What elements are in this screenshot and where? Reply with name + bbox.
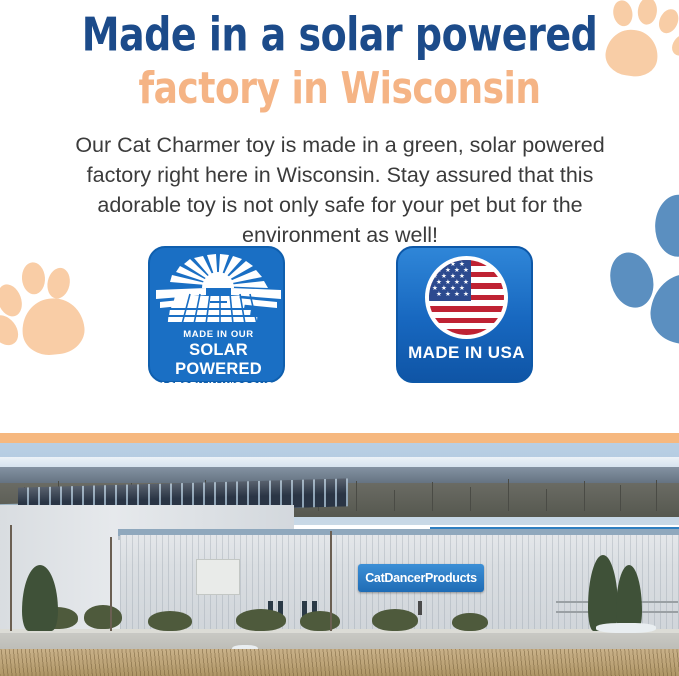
bare-tree [330, 531, 332, 631]
page-root: Made in a solar powered factory in Wisco… [0, 0, 679, 676]
decorative-orange-band [0, 405, 679, 443]
sun-over-solar-panels-icon [150, 252, 287, 330]
solar-badge-line-2: SOLAR POWERED [150, 341, 287, 379]
flag-canton: ★★ ★★ ★★ ★★ ★★ ★★ ★★ ★★ ★★ ★★ ★★ ★★ [429, 260, 471, 301]
solar-badge-line-3: FACTORY IN WISCONSIN [150, 379, 287, 393]
shrub [300, 611, 340, 631]
body-paragraph: Our Cat Charmer toy is made in a green, … [45, 130, 635, 250]
sign-post [418, 601, 422, 615]
bare-tree [10, 525, 12, 631]
company-sign-text: CatDancerProducts [365, 571, 477, 585]
building-panel-light [196, 559, 240, 595]
solar-badge-line-1: MADE IN OUR [150, 328, 287, 341]
snow-patch [596, 623, 656, 633]
made-in-usa-badge: ★★ ★★ ★★ ★★ ★★ ★★ ★★ ★★ ★★ ★★ ★★ ★★ [396, 246, 533, 383]
made-in-usa-label: MADE IN USA [398, 343, 535, 363]
shrub [372, 609, 418, 631]
solar-powered-factory-badge: MADE IN OUR SOLAR POWERED FACTORY IN WIS… [148, 246, 285, 383]
factory-photo: CatDancerProducts [0, 405, 679, 676]
shrub [236, 609, 286, 631]
heading-line-1: Made in a solar powered [0, 8, 679, 62]
shrub [452, 613, 488, 631]
shrub [84, 605, 122, 629]
badge-row: MADE IN OUR SOLAR POWERED FACTORY IN WIS… [0, 246, 679, 396]
shrub [148, 611, 192, 631]
heading-block: Made in a solar powered factory in Wisco… [0, 0, 679, 106]
us-flag-circle-icon: ★★ ★★ ★★ ★★ ★★ ★★ ★★ ★★ ★★ ★★ ★★ ★★ [425, 256, 508, 339]
bare-tree [110, 537, 112, 631]
solar-badge-text: MADE IN OUR SOLAR POWERED FACTORY IN WIS… [150, 328, 287, 393]
heading-line-2: factory in Wisconsin [0, 64, 679, 115]
company-sign: CatDancerProducts [358, 564, 484, 592]
dry-grass-texture [0, 649, 679, 676]
